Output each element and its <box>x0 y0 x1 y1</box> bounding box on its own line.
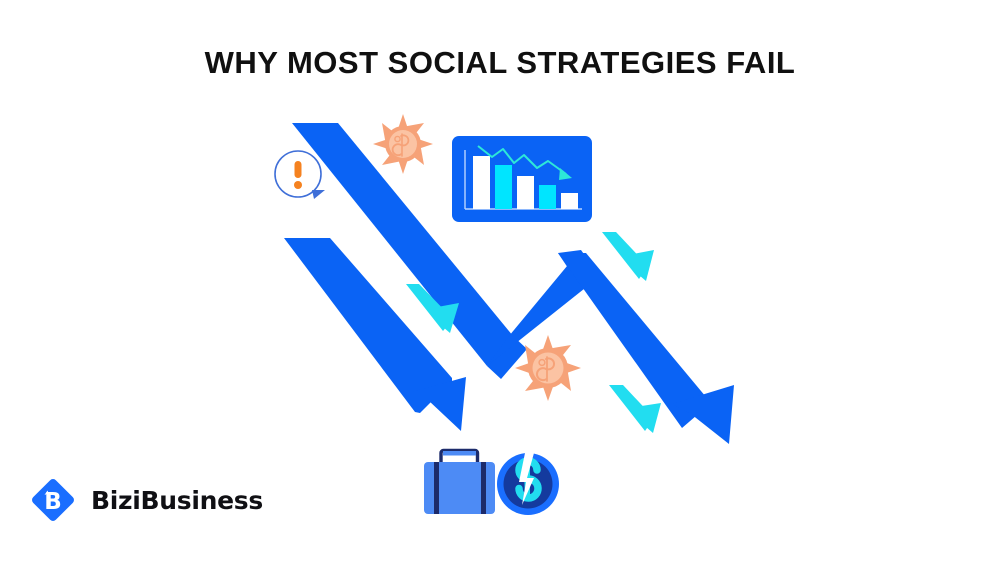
infographic-canvas: WHY MOST SOCIAL STRATEGIES FAIL <box>0 0 1000 563</box>
bar-chart-card <box>452 136 592 222</box>
chart-bar <box>495 165 512 209</box>
small-cyan-arrow-2 <box>602 232 654 281</box>
small-cyan-arrow-3 <box>609 385 661 433</box>
broken-dollar-coin-icon <box>497 453 559 515</box>
brand-logo[interactable]: B BiziBusiness <box>28 474 263 526</box>
briefcase-icon <box>424 451 495 515</box>
virus-coin-icon-1 <box>373 114 433 174</box>
chart-bar <box>539 185 556 209</box>
logo-mark-icon: B <box>28 474 78 526</box>
virus-coin-icon-2 <box>515 335 581 401</box>
alert-bubble-icon <box>275 151 325 199</box>
chart-bar <box>473 156 490 209</box>
brand-name: BiziBusiness <box>91 486 263 515</box>
chart-bar <box>561 193 578 209</box>
chart-bar <box>517 176 534 209</box>
